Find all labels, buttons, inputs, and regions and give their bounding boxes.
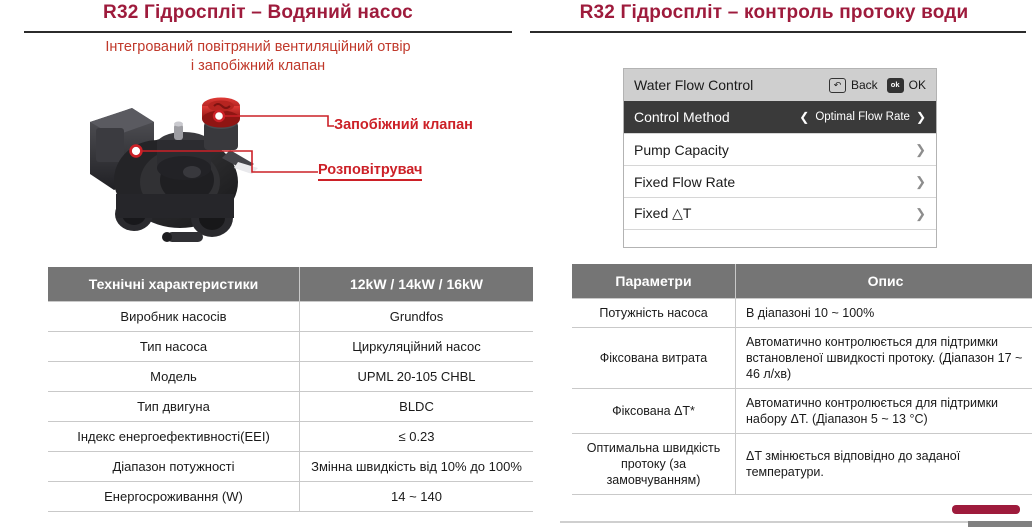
table-header-parameter: Параметри (572, 264, 736, 299)
table-header-row: Технічні характеристики 12kW / 14kW / 16… (48, 267, 533, 302)
table-row: Модель UPML 20-105 CHBL (48, 362, 533, 392)
spec-value: 14 ~ 140 (300, 482, 534, 512)
spec-name: Енергосроживання (W) (48, 482, 300, 512)
screen-title: Water Flow Control (634, 77, 829, 93)
table-row: Індекс енергоефективності(EEI) ≤ 0.23 (48, 422, 533, 452)
ok-button[interactable]: ok OK (887, 78, 926, 93)
param-name: Потужність насоса (572, 299, 736, 328)
water-flow-control-screen: Water Flow Control ↶ Back ok OK Control … (623, 68, 937, 248)
footer-rule (560, 521, 968, 523)
callout-leader-air-vent (60, 82, 340, 222)
footer-grey-bar (968, 521, 1032, 527)
menu-value-stepper[interactable]: ❮ Optimal Flow Rate ❯ (799, 110, 926, 124)
table-row: Діапазон потужності Змінна швидкість від… (48, 452, 533, 482)
back-label: Back (851, 78, 878, 92)
table-row: Тип насоса Циркуляційний насос (48, 332, 533, 362)
spec-value: Змінна швидкість від 10% до 100% (300, 452, 534, 482)
pump-spec-table: Технічні характеристики 12kW / 14kW / 16… (48, 267, 533, 512)
param-description: В діапазоні 10 ~ 100% (736, 299, 1032, 328)
spec-name: Діапазон потужності (48, 452, 300, 482)
menu-label: Fixed △T (634, 205, 915, 222)
chevron-right-icon[interactable]: ❯ (916, 110, 926, 124)
menu-label: Fixed Flow Rate (634, 174, 915, 190)
spec-value: Grundfos (300, 302, 534, 332)
param-description: Автоматично контролюється для підтримки … (736, 389, 1032, 434)
table-header-row: Параметри Опис (572, 264, 1032, 299)
menu-label: Control Method (634, 109, 799, 125)
table-row: Потужність насоса В діапазоні 10 ~ 100% (572, 299, 1032, 328)
back-arrow-icon: ↶ (829, 78, 846, 93)
title-divider-right (530, 31, 1026, 33)
menu-item-fixed-delta-t[interactable]: Fixed △T ❯ (624, 197, 936, 229)
table-row: Оптимальна швидкість протоку (за замовчу… (572, 434, 1032, 495)
menu-item-control-method[interactable]: Control Method ❮ Optimal Flow Rate ❯ (624, 101, 936, 133)
ok-label: OK (909, 78, 926, 92)
param-name: Фіксована ΔT* (572, 389, 736, 434)
callout-air-vent-text: Розповітрувач (318, 162, 422, 181)
spec-name: Індекс енергоефективності(EEI) (48, 422, 300, 452)
left-panel: R32 Гідросплiт – Водяний насос Інтегрова… (0, 0, 516, 527)
subtitle-line-2: і запобіжний клапан (0, 57, 516, 76)
menu-label: Pump Capacity (634, 142, 915, 158)
menu-value: Optimal Flow Rate (815, 111, 910, 123)
chevron-left-icon[interactable]: ❮ (799, 110, 809, 124)
param-description: ΔT змінюється відповідно до заданої темп… (736, 434, 1032, 495)
table-row: Виробник насосів Grundfos (48, 302, 533, 332)
spec-name: Виробник насосів (48, 302, 300, 332)
screen-header: Water Flow Control ↶ Back ok OK (624, 69, 936, 101)
spec-value: Циркуляційний насос (300, 332, 534, 362)
chevron-right-icon[interactable]: ❯ (915, 142, 926, 158)
callout-label-safety-valve: Запобіжний клапан (334, 117, 473, 133)
table-row: Тип двигуна BLDC (48, 392, 533, 422)
spec-value: BLDC (300, 392, 534, 422)
chevron-right-icon[interactable]: ❯ (915, 174, 926, 190)
spec-name: Тип насоса (48, 332, 300, 362)
callout-label-air-vent: Розповітрувач (318, 162, 422, 178)
menu-item-pump-capacity[interactable]: Pump Capacity ❯ (624, 133, 936, 165)
table-row: Енергосроживання (W) 14 ~ 140 (48, 482, 533, 512)
chevron-right-icon[interactable]: ❯ (915, 206, 926, 222)
spec-name: Модель (48, 362, 300, 392)
param-name: Оптимальна швидкість протоку (за замовчу… (572, 434, 736, 495)
table-row: Фіксована витрата Автоматично контролюєт… (572, 328, 1032, 389)
table-header-description: Опис (736, 264, 1032, 299)
spec-value: ≤ 0.23 (300, 422, 534, 452)
spec-name: Тип двигуна (48, 392, 300, 422)
table-header-spec: Технічні характеристики (48, 267, 300, 302)
subtitle-line-1: Інтегрований повітряний вентиляційний от… (0, 38, 516, 57)
pump-spec-table-body: Виробник насосів Grundfos Тип насоса Цир… (48, 302, 533, 512)
title-divider-left (24, 31, 512, 33)
param-description: Автоматично контролюється для підтримки … (736, 328, 1032, 389)
ok-key-icon: ok (887, 78, 904, 93)
menu-empty-row (624, 229, 936, 250)
flow-control-table-body: Потужність насоса В діапазоні 10 ~ 100% … (572, 299, 1032, 495)
menu-item-fixed-flow-rate[interactable]: Fixed Flow Rate ❯ (624, 165, 936, 197)
subtitle-left: Інтегрований повітряний вентиляційний от… (0, 38, 516, 76)
flow-control-parameters-table: Параметри Опис Потужність насоса В діапа… (572, 264, 1032, 495)
page-title-left: R32 Гідросплiт – Водяний насос (0, 2, 516, 24)
back-button[interactable]: ↶ Back (829, 78, 878, 93)
table-row: Фіксована ΔT* Автоматично контролюється … (572, 389, 1032, 434)
footer-accent-bar (952, 505, 1020, 514)
param-name: Фіксована витрата (572, 328, 736, 389)
table-header-capacity: 12kW / 14kW / 16kW (300, 267, 534, 302)
spec-value: UPML 20-105 CHBL (300, 362, 534, 392)
page-title-right: R32 Гідросплiт – контроль протоку води (516, 2, 1032, 24)
